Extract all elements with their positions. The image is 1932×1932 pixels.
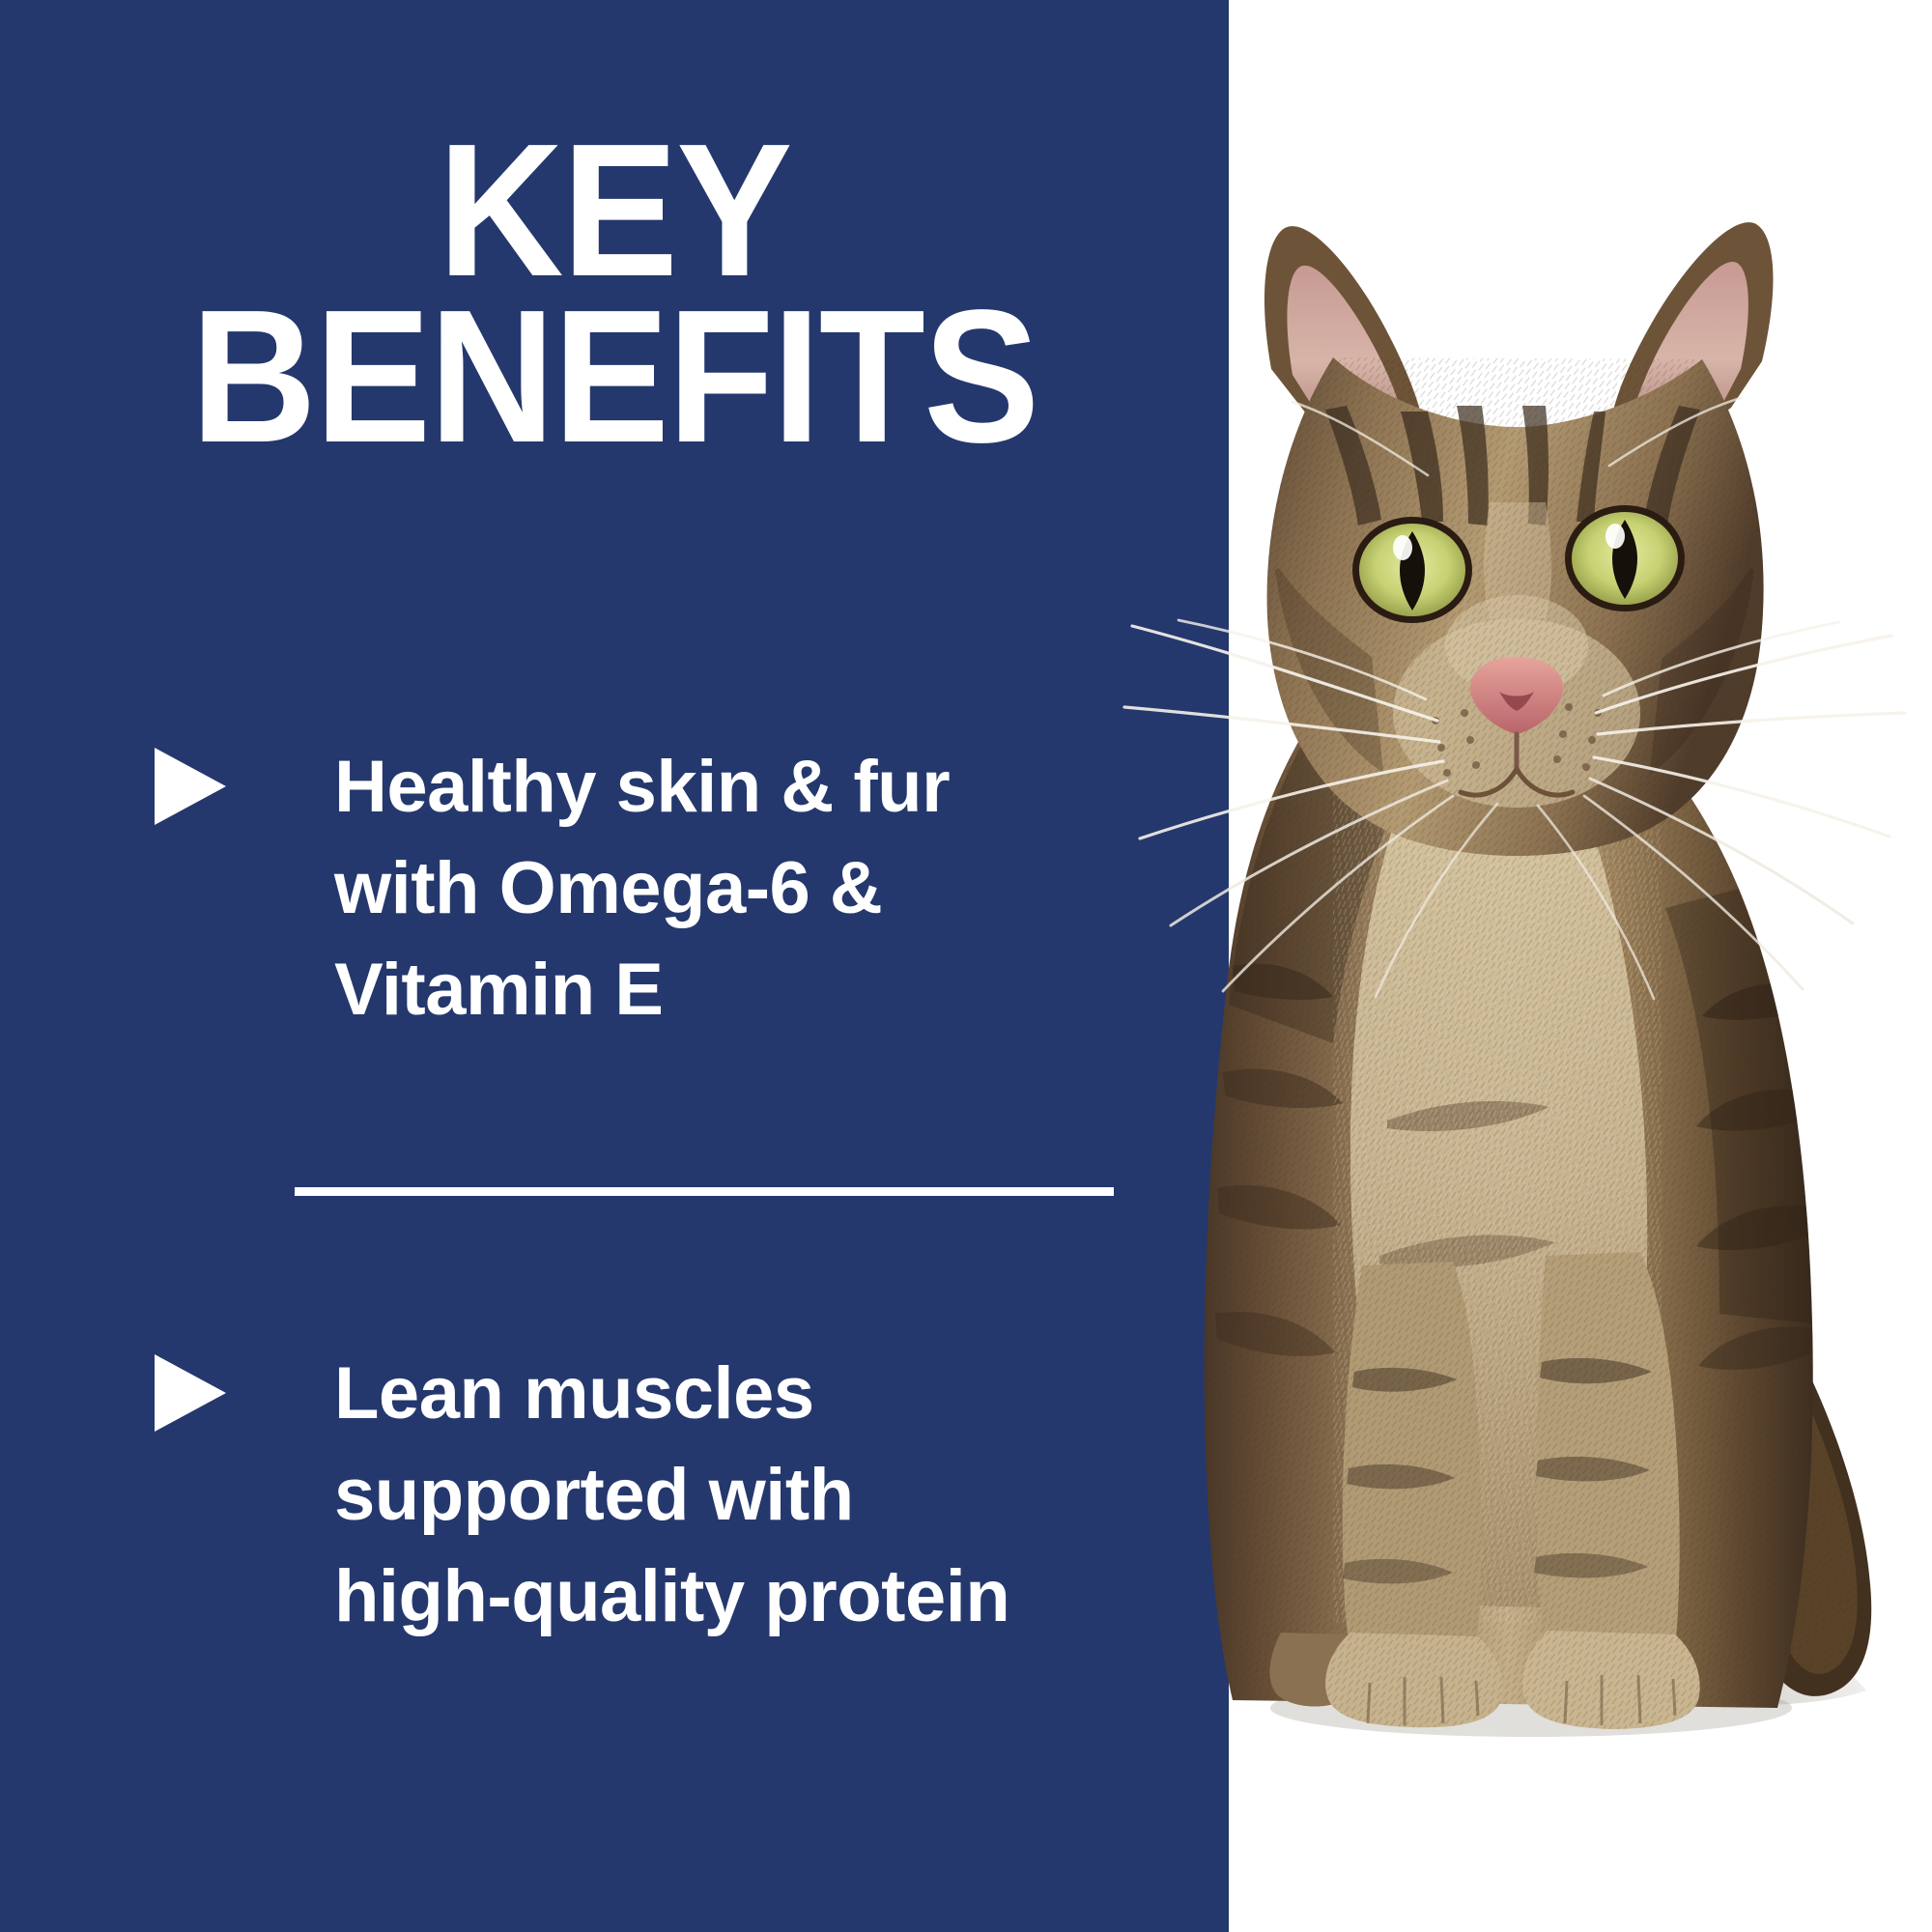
red-collar	[1329, 636, 1671, 771]
cat-tail	[1719, 1285, 1871, 1696]
cat-whiskers	[1124, 398, 1905, 999]
collar-buckle	[1424, 674, 1513, 746]
title-line-key: KEY	[49, 128, 1179, 294]
cat-shadow	[1270, 1679, 1792, 1737]
collar-d-ring	[1584, 676, 1634, 753]
play-triangle-icon	[155, 748, 226, 825]
cat-front-legs	[1269, 1252, 1699, 1729]
page-title: KEY BENEFITS	[0, 128, 1229, 460]
cat-neck	[1333, 566, 1665, 690]
title-line-benefits: BENEFITS	[49, 294, 1179, 460]
cat-head	[1217, 222, 1777, 879]
key-benefits-banner: KEY BENEFITS Healthy skin & fur with Ome…	[0, 0, 1932, 1932]
cat-nose	[1470, 657, 1563, 769]
benefit-item-1: Healthy skin & fur with Omega-6 & Vitami…	[155, 736, 1159, 1040]
benefit-item-2: Lean muscles supported with high-quality…	[155, 1343, 1159, 1647]
benefits-divider	[295, 1187, 1114, 1196]
benefit-item-1-label: Healthy skin & fur with Omega-6 & Vitami…	[334, 736, 950, 1040]
cat-left-eye	[1352, 517, 1472, 623]
cat-right-eye	[1565, 505, 1685, 611]
tail-shadow	[1662, 1623, 1866, 1705]
right-ear	[1608, 222, 1773, 450]
benefit-item-2-label: Lean muscles supported with high-quality…	[334, 1343, 1009, 1647]
play-triangle-icon	[155, 1354, 226, 1432]
left-ear	[1264, 226, 1426, 452]
